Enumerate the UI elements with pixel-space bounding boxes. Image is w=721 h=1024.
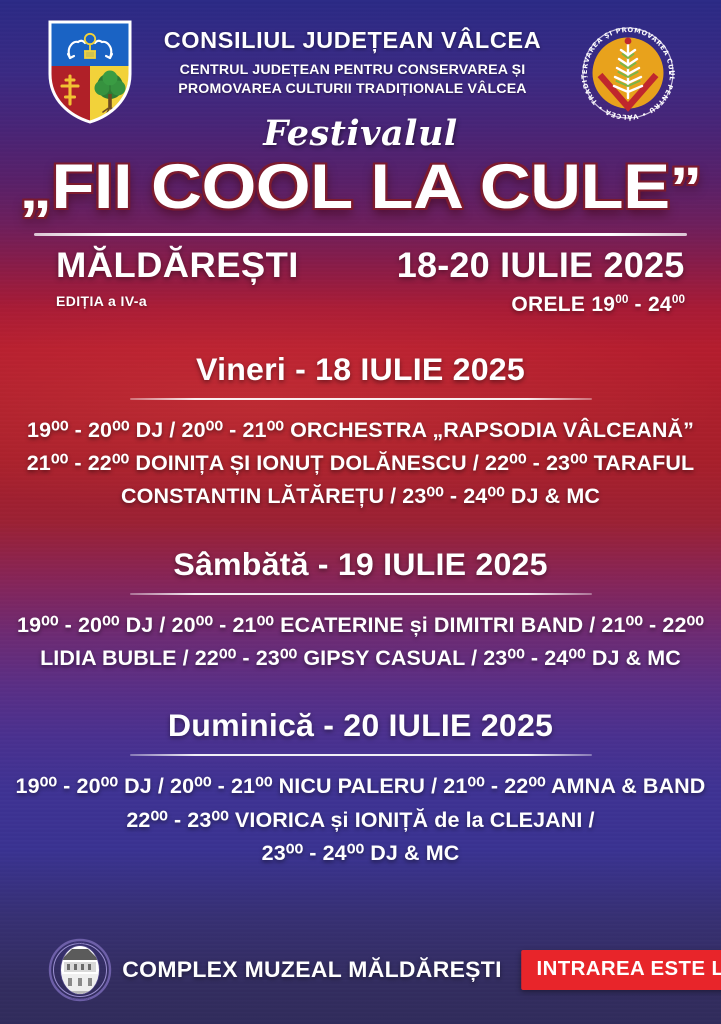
- place-date-row: MĂLDĂREȘTI EDIȚIA a IV-a 18-20 IULIE 202…: [0, 236, 721, 317]
- day-block-saturday: Sâmbătă - 19 IULIE 2025 19⁰⁰ - 20⁰⁰ DJ /…: [0, 548, 721, 676]
- org-subtitle-line2: PROMOVAREA CULTURII TRADIȚIONALE VÂLCEA: [136, 80, 569, 99]
- festival-title: „FII COOL LA CULE”: [0, 155, 721, 219]
- event-dates: 18-20 IULIE 2025: [278, 248, 685, 285]
- festival-poster: CONSILIUL JUDEȚEAN VÂLCEA CENTRUL JUDEȚE…: [0, 0, 721, 1024]
- edition-label: EDIȚIA a IV-a: [56, 293, 289, 309]
- place-column: MĂLDĂREȘTI EDIȚIA a IV-a: [56, 248, 289, 309]
- lineup-line: 22⁰⁰ - 23⁰⁰ VIORICA și IONIȚĂ de la CLEJ…: [0, 804, 721, 837]
- day-block-sunday: Duminică - 20 IULIE 2025 19⁰⁰ - 20⁰⁰ DJ …: [0, 709, 721, 870]
- museum-name: COMPLEX MUZEAL MĂLDĂREȘTI: [122, 957, 502, 983]
- cjcpct-seal-icon: CONSERVAREA ŞI PROMOVAREA CULTURII CENTR…: [569, 14, 687, 132]
- hours-to: 24: [648, 293, 672, 316]
- day-lineup: 19⁰⁰ - 20⁰⁰ DJ / 20⁰⁰ - 21⁰⁰ ECATERINE ș…: [0, 609, 721, 676]
- lineup-line: 19⁰⁰ - 20⁰⁰ DJ / 20⁰⁰ - 21⁰⁰ NICU PALERU…: [0, 770, 721, 803]
- lineup-line: LIDIA BUBLE / 22⁰⁰ - 23⁰⁰ GIPSY CASUAL /…: [0, 642, 721, 675]
- quote-close: ”: [670, 156, 702, 221]
- lineup-line: 23⁰⁰ - 24⁰⁰ DJ & MC: [0, 837, 721, 870]
- place-name: MĂLDĂREȘTI: [56, 248, 299, 285]
- hours-from-minutes: 00: [615, 293, 628, 306]
- program-days: Vineri - 18 IULIE 2025 19⁰⁰ - 20⁰⁰ DJ / …: [0, 353, 721, 871]
- hours-label: ORELE: [511, 293, 585, 316]
- date-column: 18-20 IULIE 2025 ORELE 1900 - 2400: [289, 248, 685, 317]
- lineup-line: 19⁰⁰ - 20⁰⁰ DJ / 20⁰⁰ - 21⁰⁰ ORCHESTRA „…: [0, 414, 721, 447]
- maldaresti-museum-seal-icon: • MUZEAL • MĂLDĂREȘTI: [48, 938, 112, 1002]
- org-subtitle-line1: CENTRUL JUDEȚEAN PENTRU CONSERVAREA ȘI: [136, 61, 569, 80]
- day-divider: [130, 593, 592, 595]
- svg-text:• MUZEAL •: • MUZEAL •: [71, 941, 89, 945]
- coat-of-arms-icon: [44, 14, 136, 131]
- org-title: CONSILIUL JUDEȚEAN VÂLCEA: [136, 28, 569, 54]
- header-text-group: CONSILIUL JUDEȚEAN VÂLCEA CENTRUL JUDEȚE…: [136, 14, 569, 99]
- day-title: Vineri - 18 IULIE 2025: [0, 353, 721, 386]
- poster-footer: • MUZEAL • MĂLDĂREȘTI COMPLEX MUZEAL MĂL…: [0, 938, 721, 1002]
- free-entry-badge: INTRAREA ESTE LIBERĂ: [521, 950, 721, 990]
- title-block: Festivalul „FII COOL LA CULE”: [0, 116, 721, 219]
- lineup-line: 19⁰⁰ - 20⁰⁰ DJ / 20⁰⁰ - 21⁰⁰ ECATERINE ș…: [0, 609, 721, 642]
- day-lineup: 19⁰⁰ - 20⁰⁰ DJ / 20⁰⁰ - 21⁰⁰ NICU PALERU…: [0, 770, 721, 870]
- lineup-line: CONSTANTIN LĂTĂREȚU / 23⁰⁰ - 24⁰⁰ DJ & M…: [0, 480, 721, 513]
- hours-to-minutes: 00: [672, 293, 685, 306]
- org-subtitle: CENTRUL JUDEȚEAN PENTRU CONSERVAREA ȘI P…: [136, 61, 569, 99]
- svg-text:MĂLDĂREȘTI: MĂLDĂREȘTI: [70, 996, 89, 1001]
- lineup-line: 21⁰⁰ - 22⁰⁰ DOINIȚA ȘI IONUȚ DOLĂNESCU /…: [0, 447, 721, 480]
- festival-kicker: Festivalul: [0, 116, 721, 151]
- event-hours: ORELE 1900 - 2400: [289, 293, 685, 317]
- quote-open: „: [19, 156, 51, 221]
- poster-header: CONSILIUL JUDEȚEAN VÂLCEA CENTRUL JUDEȚE…: [0, 0, 721, 118]
- festival-title-text: FII COOL LA CULE: [51, 152, 669, 222]
- day-divider: [130, 398, 592, 400]
- hours-dash: -: [635, 293, 642, 316]
- day-divider: [130, 754, 592, 756]
- day-title: Duminică - 20 IULIE 2025: [0, 709, 721, 742]
- day-block-friday: Vineri - 18 IULIE 2025 19⁰⁰ - 20⁰⁰ DJ / …: [0, 353, 721, 514]
- day-lineup: 19⁰⁰ - 20⁰⁰ DJ / 20⁰⁰ - 21⁰⁰ ORCHESTRA „…: [0, 414, 721, 514]
- day-title: Sâmbătă - 19 IULIE 2025: [0, 548, 721, 581]
- hours-from: 19: [591, 293, 615, 316]
